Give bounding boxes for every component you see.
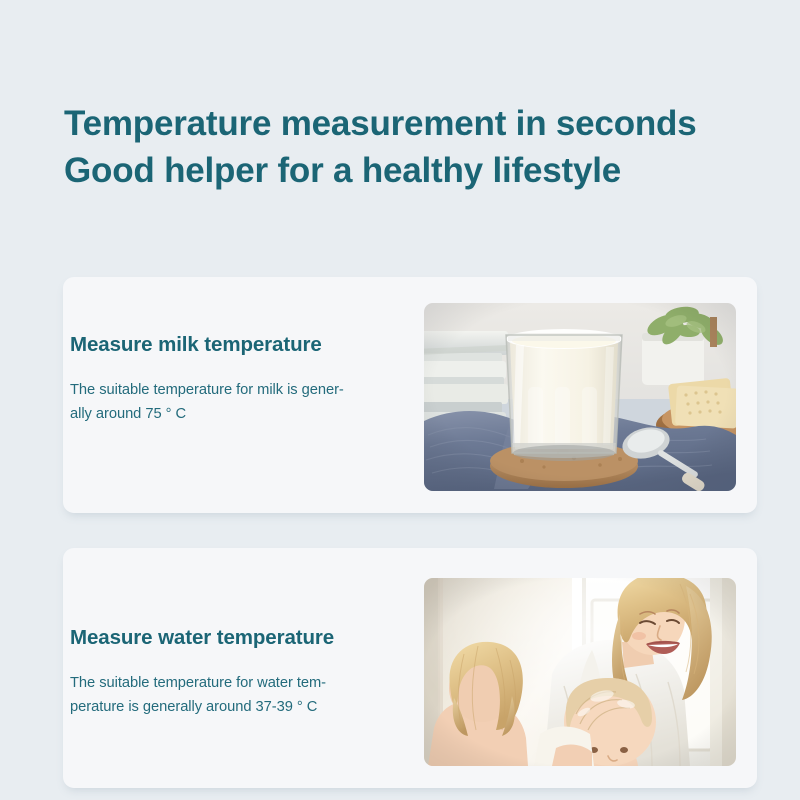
headline-line-1: Temperature measurement in seconds bbox=[64, 100, 764, 147]
mother-bathing-children-photo bbox=[424, 578, 736, 766]
card-description-line-2: ally around 75 ° C bbox=[70, 402, 420, 426]
page-title: Temperature measurement in seconds Good … bbox=[64, 100, 764, 194]
glass-of-milk-photo bbox=[424, 303, 736, 491]
card-description: The suitable temperature for water tem- … bbox=[70, 671, 420, 719]
card-description-line-2: perature is generally around 37-39 ° C bbox=[70, 695, 420, 719]
card-title: Measure milk temperature bbox=[70, 332, 420, 358]
card-description-line-1: The suitable temperature for milk is gen… bbox=[70, 378, 420, 402]
feature-card-water[interactable]: Measure water temperature The suitable t… bbox=[63, 548, 757, 788]
feature-card-milk[interactable]: Measure milk temperature The suitable te… bbox=[63, 277, 757, 513]
milk-photo-graphic bbox=[424, 303, 736, 491]
card-description: The suitable temperature for milk is gen… bbox=[70, 378, 420, 426]
card-description-line-1: The suitable temperature for water tem- bbox=[70, 671, 420, 695]
bathroom-photo-graphic bbox=[424, 578, 736, 766]
card-text-block: Measure water temperature The suitable t… bbox=[70, 625, 420, 719]
card-text-block: Measure milk temperature The suitable te… bbox=[70, 332, 420, 426]
headline-line-2: Good helper for a healthy lifestyle bbox=[64, 147, 764, 194]
card-title: Measure water temperature bbox=[70, 625, 420, 651]
